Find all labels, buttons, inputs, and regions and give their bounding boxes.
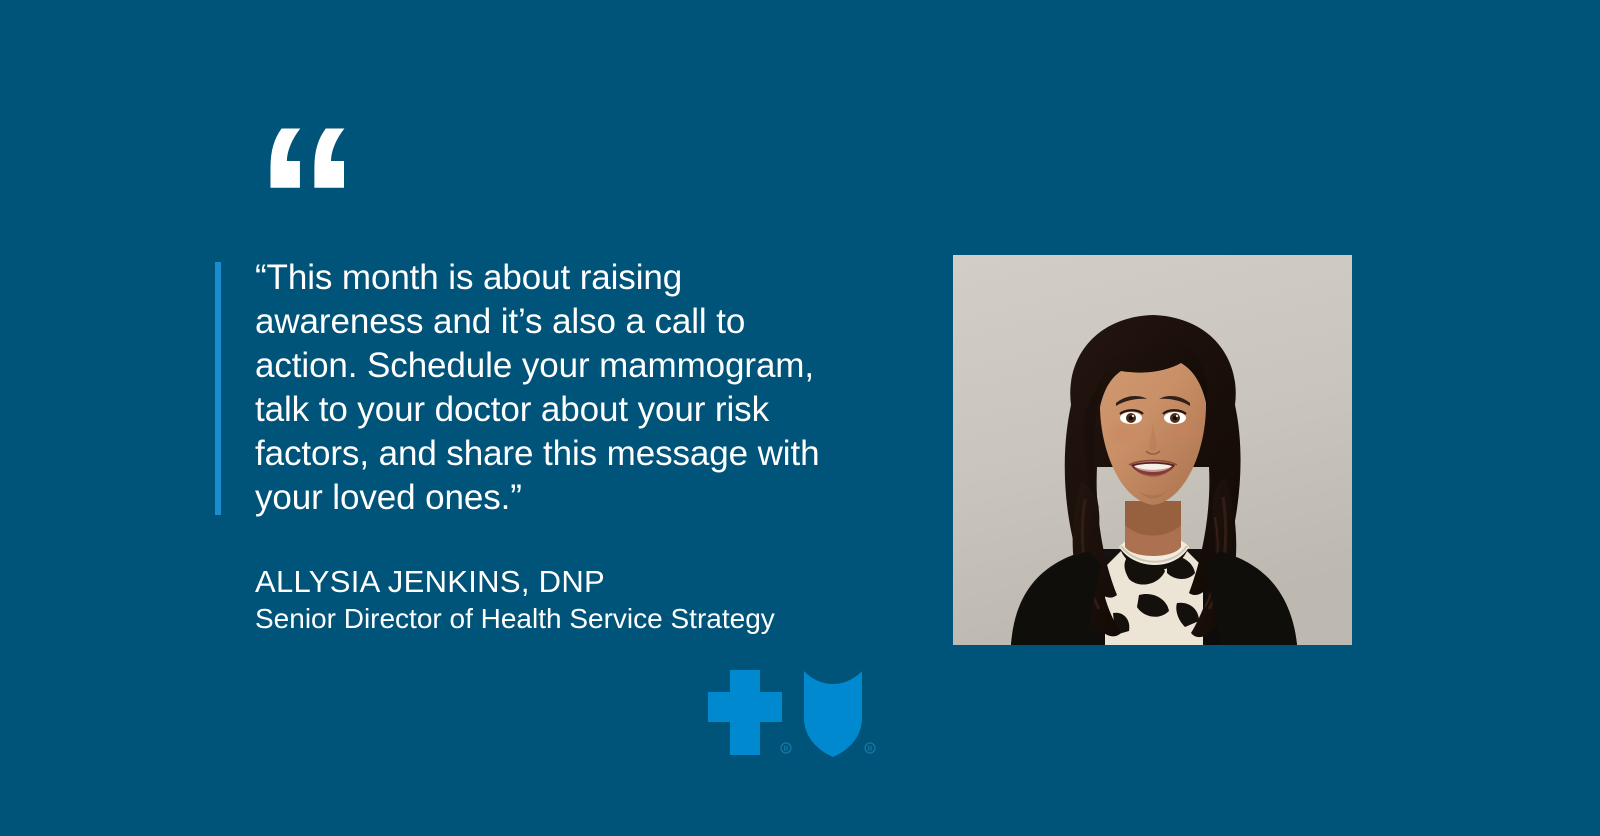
quote-text: “This month is about raising awareness a… — [255, 256, 875, 520]
attribution-name: ALLYSIA JENKINS, DNP — [255, 562, 775, 601]
quote-line: your loved ones.” — [255, 476, 875, 520]
quote-card: “ “This month is about raising awareness… — [0, 0, 1600, 836]
portrait-photo — [953, 255, 1352, 645]
shield-registered-mark-icon: R — [865, 743, 875, 753]
accent-bar — [215, 262, 221, 515]
svg-text:R: R — [783, 746, 788, 753]
quote-line: factors, and share this message with — [255, 432, 875, 476]
svg-text:R: R — [867, 746, 872, 753]
quote-line: action. Schedule your mammogram, — [255, 344, 875, 388]
quote-line: “This month is about raising — [255, 256, 875, 300]
attribution: ALLYSIA JENKINS, DNP Senior Director of … — [255, 562, 775, 637]
quote-line: awareness and it’s also a call to — [255, 300, 875, 344]
shield-icon — [804, 671, 862, 757]
cross-registered-mark-icon: R — [781, 743, 791, 753]
blue-cross-blue-shield-logo: R R — [697, 660, 887, 760]
attribution-title: Senior Director of Health Service Strate… — [255, 601, 775, 637]
quote-line: talk to your doctor about your risk — [255, 388, 875, 432]
cross-icon — [708, 670, 782, 755]
